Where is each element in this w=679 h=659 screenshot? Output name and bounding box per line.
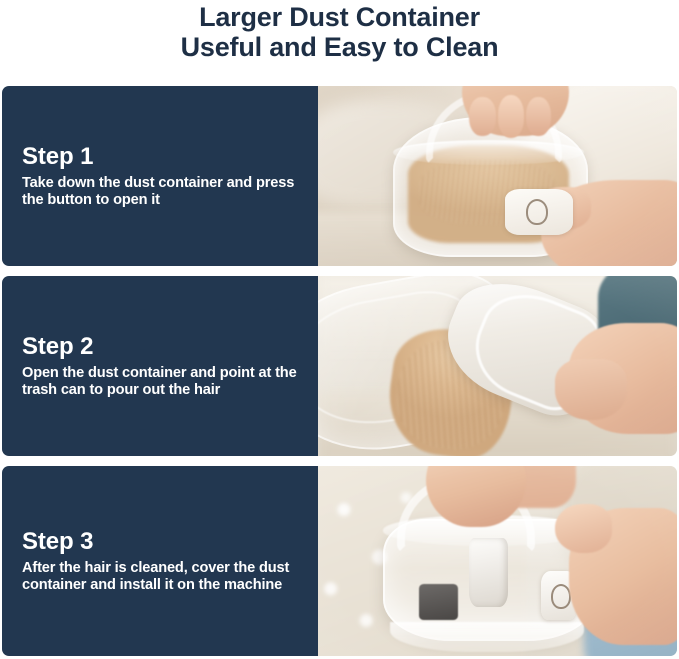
- step-1-description: Take down the dust container and press t…: [22, 175, 300, 210]
- finger: [498, 95, 525, 138]
- release-button-icon: [526, 199, 548, 225]
- step-1-title: Step 1: [22, 143, 300, 170]
- steps-list: Step 1 Take down the dust container and …: [2, 86, 677, 656]
- step-3-description: After the hair is cleaned, cover the dus…: [22, 560, 300, 595]
- page-title-line-2: Useful and Easy to Clean: [0, 32, 679, 62]
- fingers: [555, 359, 627, 420]
- step-2-caption: Step 2 Open the dust container and point…: [2, 276, 318, 456]
- thumb: [555, 504, 612, 553]
- step-row-1: Step 1 Take down the dust container and …: [2, 86, 677, 266]
- page-title-line-1: Larger Dust Container: [0, 2, 679, 32]
- internal-dark-component: [419, 584, 458, 620]
- step-3-title: Step 3: [22, 528, 300, 555]
- finger: [526, 97, 551, 137]
- step-2-photo: [318, 276, 677, 456]
- step-row-2: Step 2 Open the dust container and point…: [2, 276, 677, 456]
- step-2-description: Open the dust container and point at the…: [22, 365, 300, 400]
- page-title: Larger Dust Container Useful and Easy to…: [0, 0, 679, 62]
- step-1-photo: [318, 86, 677, 266]
- step-1-caption: Step 1 Take down the dust container and …: [2, 86, 318, 266]
- step-3-photo: [318, 466, 677, 656]
- step-3-caption: Step 3 After the hair is cleaned, cover …: [2, 466, 318, 656]
- step-2-title: Step 2: [22, 333, 300, 360]
- product-feature-infographic: Larger Dust Container Useful and Easy to…: [0, 0, 679, 659]
- step-row-3: Step 3 After the hair is cleaned, cover …: [2, 466, 677, 656]
- finger: [469, 97, 496, 137]
